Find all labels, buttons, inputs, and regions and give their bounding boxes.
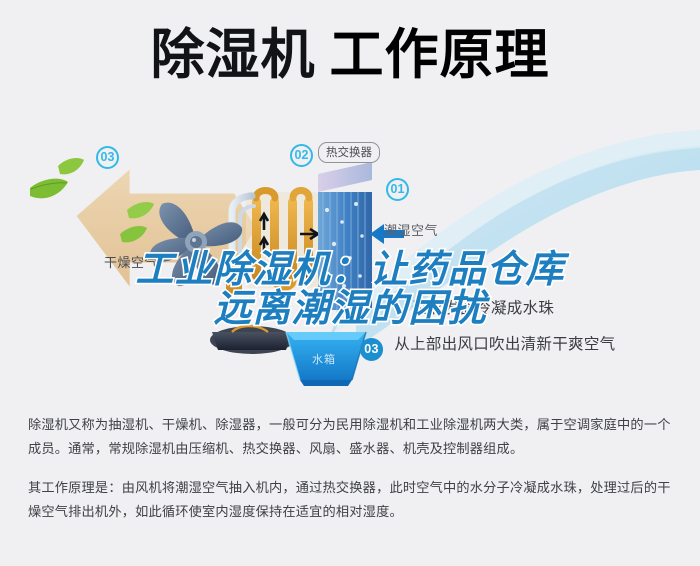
body-copy: 除湿机又称为抽湿机、干燥机、除湿器，一般可分为民用除湿机和工业除湿机两大类，属于…: [28, 414, 676, 526]
badge-02-heat-exchanger: 02: [290, 144, 313, 167]
machine-base-icon: [210, 326, 294, 354]
badge-01-humid-air: 01: [386, 178, 409, 201]
badge-03-dry-air: 03: [96, 146, 119, 169]
body-paragraph-2: 其工作原理是：由风机将潮湿空气抽入机内，通过热交换器，此时空气中的水分子冷凝成水…: [28, 477, 676, 526]
step-line-03: 03 从上部出风口吹出清新干爽空气: [360, 332, 615, 357]
dehumidifier-diagram: 03 干燥空气 02 热交换器 01 潮湿空气 水箱 过蒸发器冷凝成水珠 03 …: [0, 126, 700, 398]
body-paragraph-1: 除湿机又称为抽湿机、干燥机、除湿器，一般可分为民用除湿机和工业除湿机两大类，属于…: [28, 414, 676, 463]
page-title-segment-1: 除湿机: [151, 23, 316, 86]
step-line-02: 过蒸发器冷凝成水珠: [412, 296, 554, 318]
label-water-tank: 水箱: [312, 351, 336, 367]
label-humid-air: 潮湿空气: [384, 220, 438, 239]
label-dry-air: 干燥空气: [104, 252, 158, 271]
step-03-text: 从上部出风口吹出清新干爽空气: [394, 335, 615, 353]
infographic-page: 除湿机工作原理: [0, 0, 700, 566]
callout-heat-exchanger: 热交换器: [318, 142, 380, 163]
page-title: 除湿机工作原理: [0, 28, 700, 82]
step-02-text: 过蒸发器冷凝成水珠: [412, 299, 554, 317]
page-title-segment-2: 工作原理: [330, 23, 550, 86]
badge-step-03: 03: [360, 338, 383, 361]
